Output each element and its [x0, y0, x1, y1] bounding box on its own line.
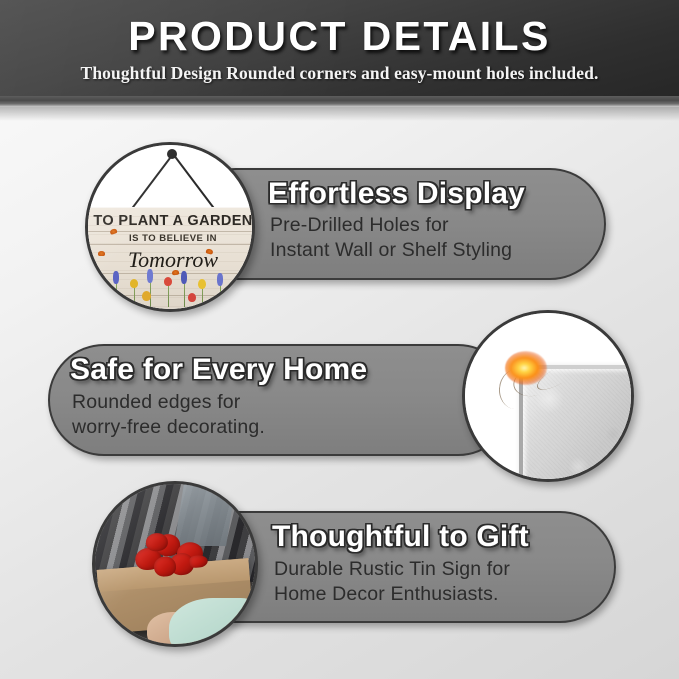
plank-line	[85, 244, 255, 245]
butterfly-icon	[98, 251, 105, 256]
product-details-infographic: PRODUCT DETAILS Thoughtful Design Rounde…	[0, 0, 679, 679]
sign-hanger-knob	[167, 149, 177, 159]
sign-text-line-3: Tomorrow	[85, 247, 255, 273]
flower	[164, 277, 172, 286]
feature-image-thoughtful-to-gift	[92, 481, 258, 647]
feature-title-safe-for-every-home: Safe for Every Home	[70, 353, 367, 387]
feature-title-thoughtful-to-gift: Thoughtful to Gift	[272, 520, 529, 554]
feature-subtitle-line-2: worry-free decorating.	[72, 415, 265, 440]
sign-text-line-2: IS TO BELIEVE IN	[85, 233, 255, 244]
sign-text-line-1: TO PLANT A GARDEN	[85, 213, 255, 229]
feature-image-safe-for-every-home	[462, 310, 634, 482]
corner-glow-highlight	[505, 351, 547, 385]
header-drop-shadow	[0, 107, 679, 121]
page-subtitle: Thoughtful Design Rounded corners and ea…	[0, 62, 679, 84]
feature-subtitle-effortless-display: Pre-Drilled Holes for Instant Wall or Sh…	[270, 213, 512, 263]
feature-subtitle-line-2: Instant Wall or Shelf Styling	[270, 238, 512, 263]
header-divider-strip	[0, 96, 679, 107]
flower	[217, 273, 223, 286]
rounded-metal-corner-closeup-photo	[465, 313, 631, 479]
feature-subtitle-line-2: Home Decor Enthusiasts.	[274, 582, 510, 607]
feature-subtitle-line-1: Pre-Drilled Holes for	[270, 213, 512, 238]
flower	[147, 269, 153, 283]
bow-tail	[189, 555, 208, 569]
feature-subtitle-line-1: Rounded edges for	[72, 390, 265, 415]
gift-ribbon-bow	[131, 527, 209, 583]
feature-subtitle-line-1: Durable Rustic Tin Sign for	[274, 557, 510, 582]
flower	[188, 293, 196, 302]
bow-loop	[153, 556, 177, 578]
plank-line	[85, 295, 255, 296]
butterfly-icon	[172, 270, 180, 276]
flower	[113, 271, 119, 284]
flower	[96, 277, 103, 286]
flower	[198, 279, 206, 289]
flower	[130, 279, 138, 288]
feature-title-effortless-display: Effortless Display	[268, 177, 525, 211]
sign-plate: TO PLANT A GARDEN IS TO BELIEVE IN Tomor…	[85, 207, 255, 312]
feature-subtitle-safe-for-every-home: Rounded edges for worry-free decorating.	[72, 390, 265, 440]
gift-box-handoff-photo	[95, 484, 255, 644]
page-title: PRODUCT DETAILS	[0, 14, 679, 59]
plank-line	[85, 273, 255, 274]
recipient-sleeve	[169, 598, 258, 647]
round-hanging-garden-sign-photo: TO PLANT A GARDEN IS TO BELIEVE IN Tomor…	[88, 145, 252, 309]
feature-subtitle-thoughtful-to-gift: Durable Rustic Tin Sign for Home Decor E…	[274, 557, 510, 607]
flower	[233, 281, 240, 290]
flower	[142, 291, 151, 301]
flower	[181, 271, 187, 284]
feature-image-effortless-display: TO PLANT A GARDEN IS TO BELIEVE IN Tomor…	[85, 142, 255, 312]
